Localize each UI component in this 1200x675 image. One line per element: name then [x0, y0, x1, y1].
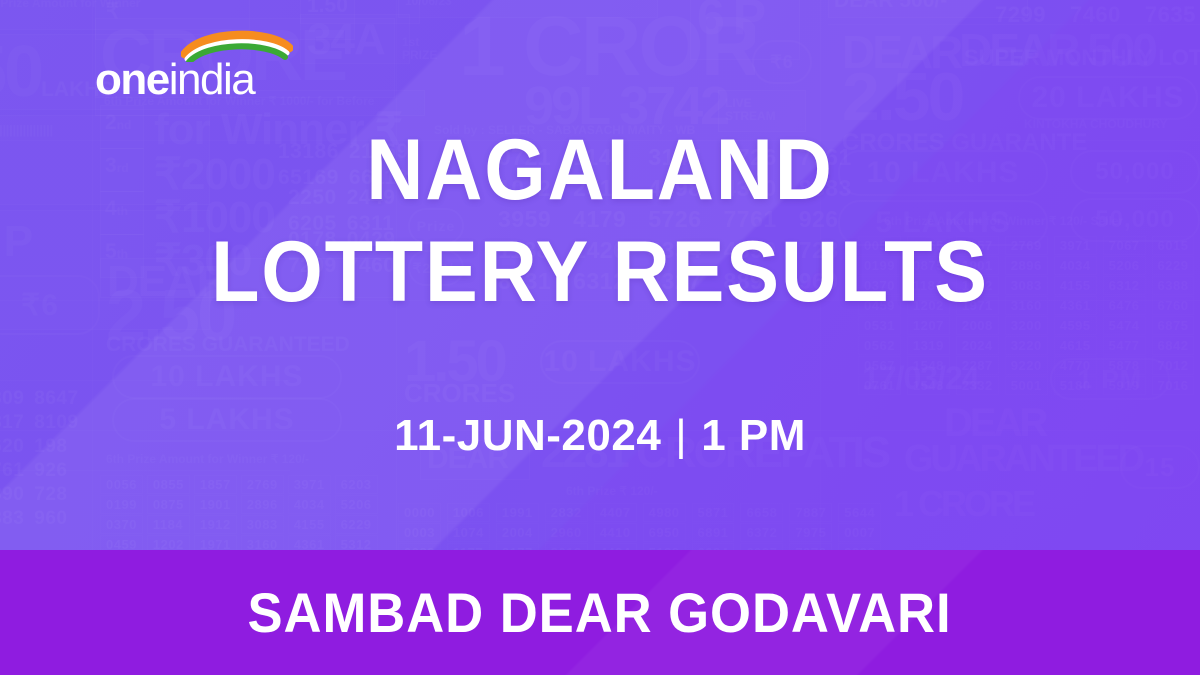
draw-time: 1 PM: [701, 411, 806, 460]
promo-graphic: 6th Prize Amount for Winner 50LAKHS ||||…: [0, 0, 1200, 675]
logo-india-text: india: [169, 55, 254, 104]
separator: |: [661, 411, 701, 460]
page-title: NAGALAND LOTTERY RESULTS: [0, 128, 1200, 315]
oneindia-logo[interactable]: oneindia: [95, 28, 295, 98]
draw-date-time: 11-JUN-2024|1 PM: [0, 411, 1200, 461]
headline-line-1: NAGALAND: [48, 128, 1152, 212]
headline-line-2: LOTTERY RESULTS: [48, 230, 1152, 314]
lottery-name-banner: SAMBAD DEAR GODAVARI: [0, 550, 1200, 675]
lottery-name: SAMBAD DEAR GODAVARI: [248, 580, 952, 645]
draw-date: 11-JUN-2024: [394, 411, 661, 460]
logo-one-text: one: [95, 55, 169, 104]
logo-wordmark: oneindia: [95, 58, 254, 102]
